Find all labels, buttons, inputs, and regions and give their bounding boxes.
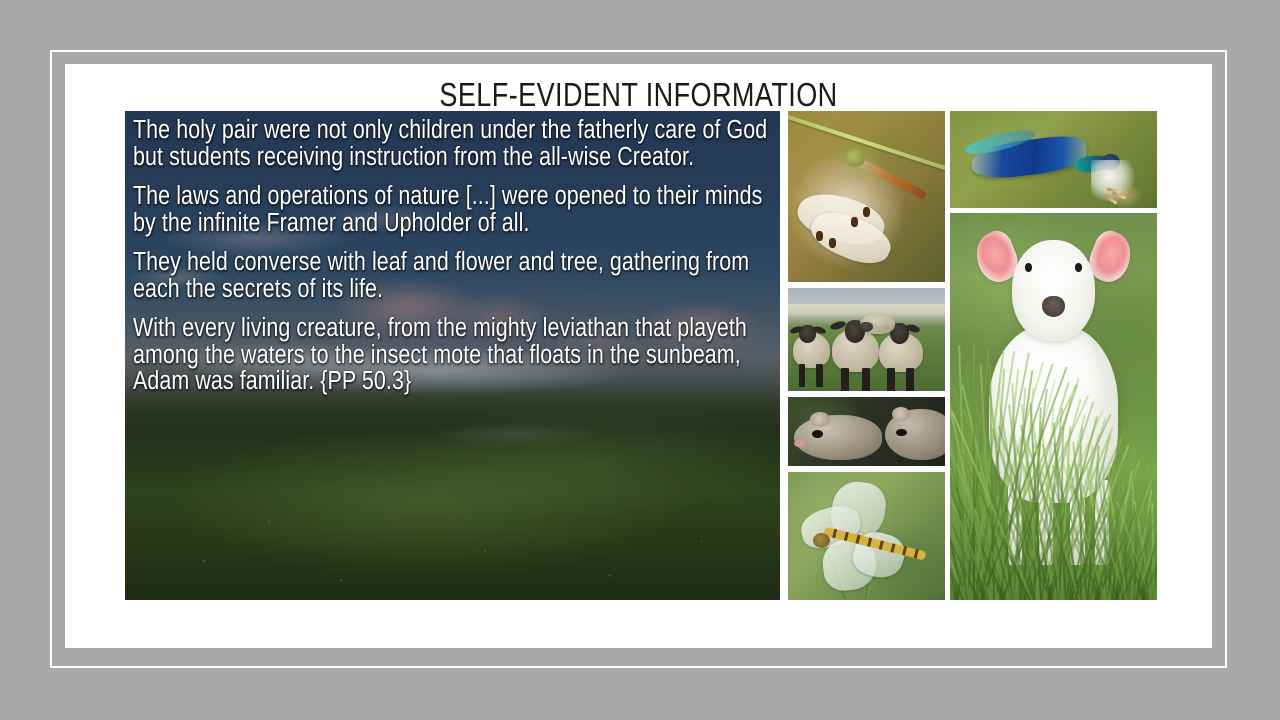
- sheep-leg: [799, 364, 805, 387]
- dragonfly-wing-spot: [829, 238, 836, 248]
- quote-paragraph-1: The holy pair were not only children und…: [133, 117, 772, 170]
- slide-root: SELF-EVIDENT INFORMATION The holy pair w…: [0, 0, 1280, 720]
- lamb-leg-front-right: [1039, 480, 1053, 565]
- quote-paragraph-list: The holy pair were not only children und…: [133, 117, 778, 594]
- sheep-leg: [841, 368, 849, 391]
- sheep-leg: [906, 368, 914, 391]
- dormouse-body: [794, 415, 882, 461]
- quote-paragraph-4: With every living creature, from the mig…: [133, 315, 772, 395]
- dragonfly-wing-spot: [851, 217, 858, 227]
- sheep-leg: [862, 368, 870, 391]
- slide-content-card: SELF-EVIDENT INFORMATION The holy pair w…: [65, 64, 1212, 648]
- sheep-leg: [816, 364, 822, 387]
- dragonfly-wing-spot: [863, 207, 870, 217]
- slide-title: SELF-EVIDENT INFORMATION: [168, 76, 1109, 114]
- quote-paragraph-2: The laws and operations of nature [...] …: [133, 183, 772, 236]
- photo-grid: Pale dragonfly clinging to a green stem …: [788, 111, 1157, 600]
- dandelion-seed: [1104, 195, 1117, 205]
- photo-blue-damselfly: Blue banded damselfly perched on a dande…: [950, 111, 1157, 208]
- lamb-eye-left: [1025, 263, 1032, 272]
- slide-content-area: The holy pair were not only children und…: [125, 111, 1157, 600]
- lamb-leg-front-left: [1008, 480, 1022, 565]
- lamb-leg-hind-left: [1070, 480, 1084, 565]
- photo-dragonfly-on-stem: Pale dragonfly clinging to a green stem …: [788, 111, 945, 282]
- photo-sheep-flock: Black-faced Suffolk sheep standing in a …: [788, 288, 945, 391]
- photo-dormice: Two dormice on a branch in dim light: [788, 397, 945, 466]
- dragonfly-wing-spot: [816, 231, 823, 241]
- quote-text-panel: The holy pair were not only children und…: [125, 111, 780, 600]
- dragonfly-head: [845, 149, 865, 167]
- photo-lamb: White lamb standing in tall green grass,…: [950, 213, 1157, 600]
- dandelion-seed-head: [1091, 160, 1145, 209]
- quote-paragraph-3: They held converse with leaf and flower …: [133, 249, 772, 302]
- lamb-head: [1012, 240, 1095, 341]
- lamb-body: [989, 325, 1117, 503]
- dandelion-seed: [1112, 192, 1126, 200]
- lamb-leg-hind-right: [1095, 480, 1109, 565]
- photo-yellow-dragonfly: Yellow and black banded dragonfly with c…: [788, 472, 945, 600]
- dormouse-eye: [812, 430, 823, 438]
- sheep-leg: [887, 368, 895, 391]
